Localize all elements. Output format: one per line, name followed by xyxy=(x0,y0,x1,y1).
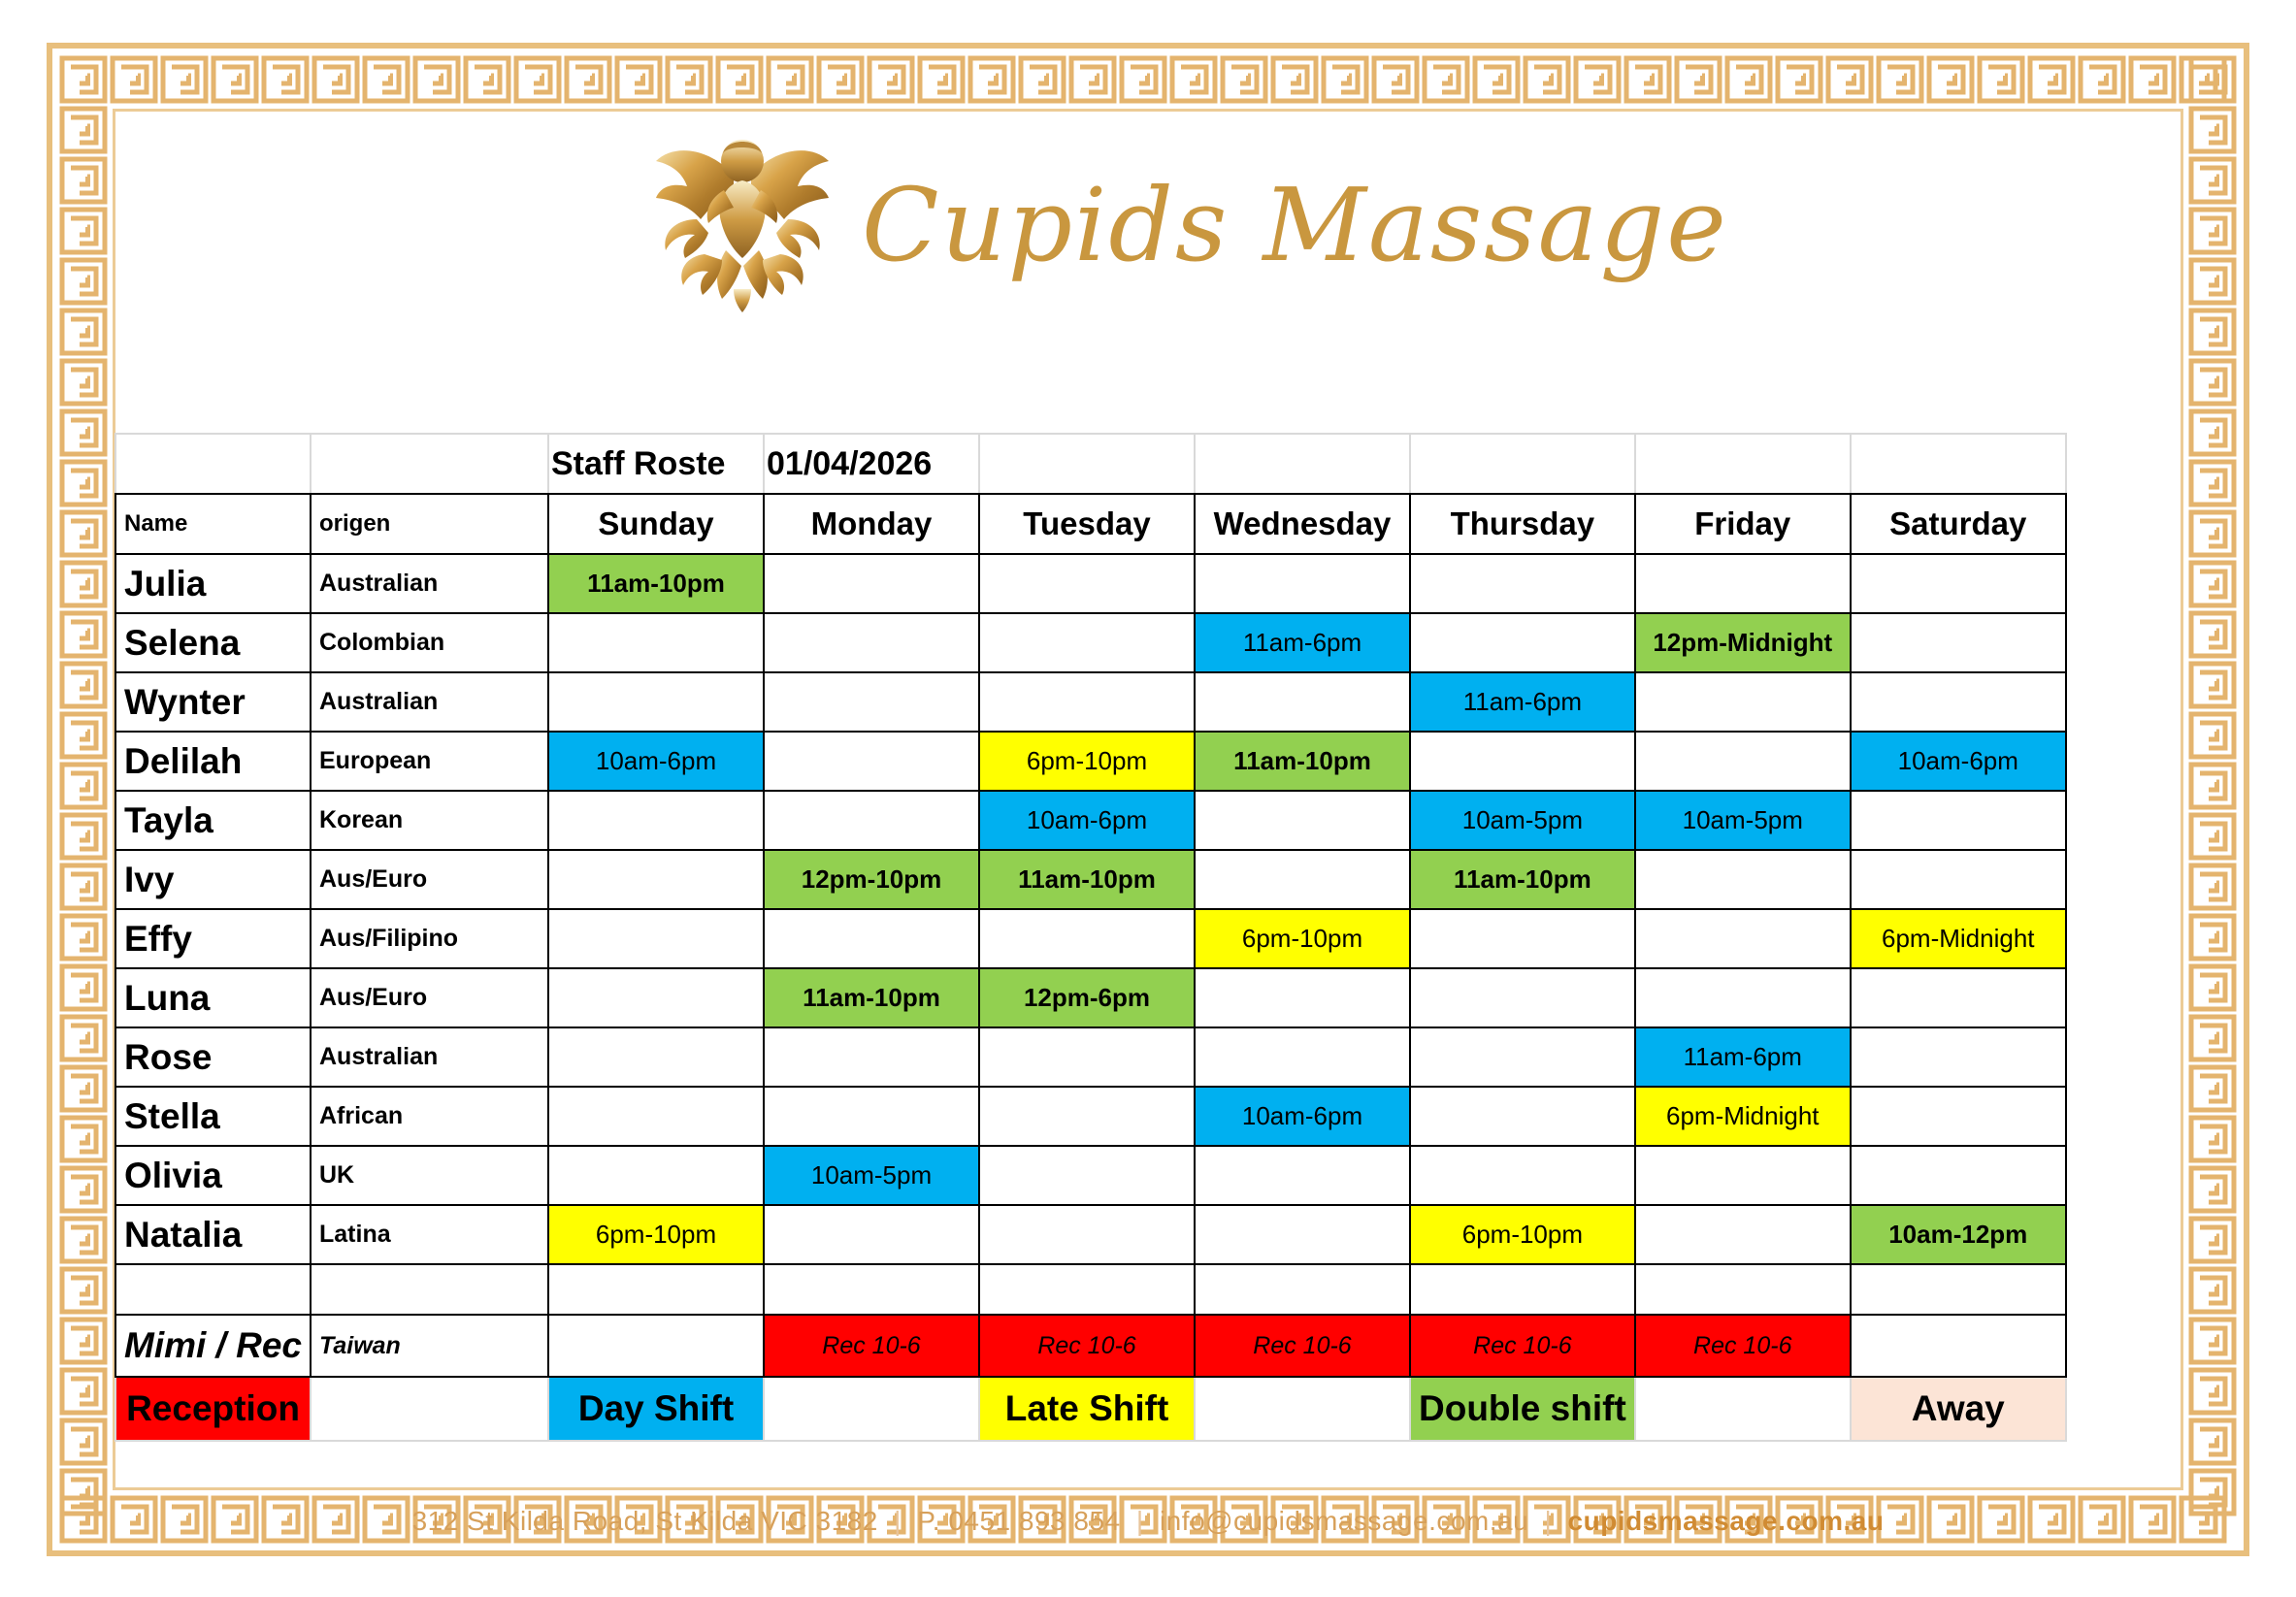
greek-key-tile xyxy=(2187,155,2238,206)
greek-key-tile xyxy=(2187,1265,2238,1316)
shift-cell-empty[interactable] xyxy=(1851,1027,2066,1087)
roster-title-date: 01/04/2026 xyxy=(764,434,979,494)
staff-origin: Korean xyxy=(311,791,548,850)
shift-cell-dbl[interactable]: 12pm-Midnight xyxy=(1635,613,1851,672)
table-row: EffyAus/Filipino6pm-10pm6pm-Midnight xyxy=(115,909,2066,968)
footer-address: 312 St Kilda Road, St Kilda VIC 3182 xyxy=(412,1506,878,1536)
shift-cell-empty[interactable] xyxy=(1195,554,1410,613)
shift-cell-empty[interactable] xyxy=(1195,672,1410,732)
greek-key-tile xyxy=(2187,508,2238,559)
spacer-cell xyxy=(1195,1264,1410,1315)
shift-cell-empty[interactable] xyxy=(1851,672,2066,732)
staff-origin: Australian xyxy=(311,1027,548,1087)
title-spacer-name xyxy=(115,434,311,494)
roster-header-row: NameorigenSundayMondayTuesdayWednesdayTh… xyxy=(115,494,2066,554)
staff-name: Selena xyxy=(115,613,311,672)
greek-key-tile xyxy=(2187,357,2238,407)
legend-row: ReceptionDay ShiftLate ShiftDouble shift… xyxy=(115,1377,2066,1441)
shift-cell-empty[interactable] xyxy=(1635,732,1851,791)
greek-key-tile xyxy=(1067,54,1118,105)
greek-key-tile xyxy=(58,1114,109,1164)
staff-name: Tayla xyxy=(115,791,311,850)
footer-separator-1: | xyxy=(886,1506,909,1536)
greek-key-tile xyxy=(1522,54,1572,105)
greek-key-tile xyxy=(1168,54,1219,105)
shift-cell-empty[interactable] xyxy=(1635,909,1851,968)
staff-name: Rose xyxy=(115,1027,311,1087)
shift-cell-empty[interactable] xyxy=(1851,554,2066,613)
greek-key-tile xyxy=(58,811,109,862)
greek-key-tile xyxy=(2187,54,2238,105)
shift-cell-empty[interactable] xyxy=(1195,1027,1410,1087)
staff-origin: Aus/Euro xyxy=(311,850,548,909)
shift-cell-empty[interactable] xyxy=(1410,1146,1635,1205)
title-spacer-cell xyxy=(1851,434,2066,494)
spacer-cell xyxy=(1635,1264,1851,1315)
greek-key-tile xyxy=(1269,54,1320,105)
greek-key-tile xyxy=(1370,54,1421,105)
greek-key-tile xyxy=(1421,54,1471,105)
shift-cell-empty[interactable] xyxy=(979,1205,1195,1264)
greek-key-tile xyxy=(2187,458,2238,508)
greek-key-tile xyxy=(815,54,866,105)
shift-cell-empty[interactable] xyxy=(548,850,764,909)
shift-cell-empty[interactable] xyxy=(1851,1315,2066,1377)
greek-key-tile xyxy=(2187,1164,2238,1215)
greek-key-tile xyxy=(916,54,967,105)
staff-name: Julia xyxy=(115,554,311,613)
title-spacer-cell xyxy=(1635,434,1851,494)
reception-staff-origin: Taiwan xyxy=(311,1315,548,1377)
greek-key-tile xyxy=(1925,54,1976,105)
staff-origin: Aus/Euro xyxy=(311,968,548,1027)
shift-cell-empty[interactable] xyxy=(764,909,979,968)
greek-key-tile xyxy=(58,407,109,458)
shift-cell-empty[interactable] xyxy=(1851,968,2066,1027)
greek-key-tile xyxy=(2187,1215,2238,1265)
shift-cell-empty[interactable] xyxy=(979,909,1195,968)
greek-key-tile xyxy=(58,1215,109,1265)
table-row: StellaAfrican10am-6pm6pm-Midnight xyxy=(115,1087,2066,1146)
shift-cell-day[interactable]: 10am-5pm xyxy=(1410,791,1635,850)
shift-cell-late[interactable]: 6pm-10pm xyxy=(548,1205,764,1264)
greek-key-tile xyxy=(2187,105,2238,155)
staff-name: Natalia xyxy=(115,1205,311,1264)
shift-cell-empty[interactable] xyxy=(1851,791,2066,850)
shift-cell-empty[interactable] xyxy=(1410,909,1635,968)
greek-key-tile xyxy=(765,54,815,105)
shift-cell-day[interactable]: 10am-6pm xyxy=(1195,1087,1410,1146)
shift-cell-dbl[interactable]: 11am-10pm xyxy=(548,554,764,613)
column-header-tuesday: Tuesday xyxy=(979,494,1195,554)
greek-key-tile xyxy=(58,256,109,307)
legend-double-shift: Double shift xyxy=(1410,1377,1635,1441)
shift-cell-empty[interactable] xyxy=(979,672,1195,732)
shift-cell-empty[interactable] xyxy=(979,554,1195,613)
greek-key-tile xyxy=(967,54,1017,105)
legend-day-shift: Day Shift xyxy=(548,1377,764,1441)
staff-origin: Australian xyxy=(311,672,548,732)
shift-cell-dbl[interactable]: 12pm-10pm xyxy=(764,850,979,909)
shift-cell-dbl[interactable]: 11am-10pm xyxy=(979,850,1195,909)
staff-origin: Colombian xyxy=(311,613,548,672)
shift-cell-rec[interactable]: Rec 10-6 xyxy=(979,1315,1195,1377)
shift-cell-empty[interactable] xyxy=(1635,850,1851,909)
greek-key-tile xyxy=(1875,54,1925,105)
column-header-saturday: Saturday xyxy=(1851,494,2066,554)
table-row: TaylaKorean10am-6pm10am-5pm10am-5pm xyxy=(115,791,2066,850)
table-row: IvyAus/Euro12pm-10pm11am-10pm11am-10pm xyxy=(115,850,2066,909)
greek-key-tile xyxy=(2187,660,2238,710)
table-row: DelilahEuropean10am-6pm6pm-10pm11am-10pm… xyxy=(115,732,2066,791)
reception-staff-row: Mimi / RecTaiwanRec 10-6Rec 10-6Rec 10-6… xyxy=(115,1315,2066,1377)
greek-key-tile xyxy=(2187,307,2238,357)
greek-key-tile xyxy=(2187,761,2238,811)
legend-spacer xyxy=(1635,1377,1851,1441)
greek-key-tile xyxy=(714,54,765,105)
spacer-cell xyxy=(115,1264,311,1315)
shift-cell-empty[interactable] xyxy=(764,1087,979,1146)
shift-cell-empty[interactable] xyxy=(1410,732,1635,791)
footer-contact: 312 St Kilda Road, St Kilda VIC 3182 | P… xyxy=(0,1506,2296,1537)
greek-key-tile xyxy=(2187,407,2238,458)
shift-cell-empty[interactable] xyxy=(1851,613,2066,672)
greek-key-tile xyxy=(1017,54,1067,105)
greek-key-tile xyxy=(58,206,109,256)
greek-key-tile xyxy=(58,761,109,811)
title-spacer-cell xyxy=(1195,434,1410,494)
greek-key-tile xyxy=(1976,54,2026,105)
table-row: NataliaLatina6pm-10pm6pm-10pm10am-12pm xyxy=(115,1205,2066,1264)
column-header-friday: Friday xyxy=(1635,494,1851,554)
shift-cell-empty[interactable] xyxy=(1195,1146,1410,1205)
legend-spacer xyxy=(764,1377,979,1441)
greek-key-tile xyxy=(2187,609,2238,660)
greek-key-right xyxy=(2187,54,2238,1517)
shift-cell-day[interactable]: 11am-6pm xyxy=(1635,1027,1851,1087)
greek-key-tile xyxy=(159,54,210,105)
greek-key-tile xyxy=(462,54,512,105)
greek-key-tile xyxy=(109,54,159,105)
staff-origin: African xyxy=(311,1087,548,1146)
table-row: RoseAustralian11am-6pm xyxy=(115,1027,2066,1087)
greek-key-tile xyxy=(2187,1417,2238,1467)
greek-key-tile xyxy=(613,54,664,105)
shift-cell-dbl[interactable]: 12pm-6pm xyxy=(979,968,1195,1027)
table-row: JuliaAustralian11am-10pm xyxy=(115,554,2066,613)
greek-key-tile xyxy=(58,559,109,609)
greek-key-tile xyxy=(58,307,109,357)
spacer-cell xyxy=(764,1264,979,1315)
greek-key-tile xyxy=(260,54,311,105)
footer-phone: P. 0451 893 854 xyxy=(917,1506,1120,1536)
greek-key-tile xyxy=(2187,1366,2238,1417)
shift-cell-late[interactable]: 6pm-10pm xyxy=(1410,1205,1635,1264)
shift-cell-empty[interactable] xyxy=(1410,1027,1635,1087)
footer-email[interactable]: info@cupidsmassage.com.au xyxy=(1160,1506,1528,1536)
shift-cell-rec[interactable]: Rec 10-6 xyxy=(1195,1315,1410,1377)
shift-cell-empty[interactable] xyxy=(548,613,764,672)
column-header-name: Name xyxy=(115,494,311,554)
shift-cell-empty[interactable] xyxy=(1851,850,2066,909)
footer-separator-3: | xyxy=(1536,1506,1559,1536)
greek-key-tile xyxy=(2077,54,2127,105)
shift-cell-empty[interactable] xyxy=(1410,1087,1635,1146)
greek-key-tile xyxy=(1723,54,1774,105)
title-spacer-origin xyxy=(311,434,548,494)
greek-key-tile xyxy=(2187,710,2238,761)
staff-origin: European xyxy=(311,732,548,791)
legend-reception: Reception xyxy=(115,1377,311,1441)
title-spacer-cell xyxy=(1410,434,1635,494)
shift-cell-day[interactable]: 10am-6pm xyxy=(1851,732,2066,791)
shift-cell-empty[interactable] xyxy=(548,1027,764,1087)
column-header-wednesday: Wednesday xyxy=(1195,494,1410,554)
spacer-cell xyxy=(979,1264,1195,1315)
shift-cell-empty[interactable] xyxy=(764,613,979,672)
spacer-cell xyxy=(311,1264,548,1315)
shift-cell-empty[interactable] xyxy=(548,791,764,850)
staff-name: Olivia xyxy=(115,1146,311,1205)
legend-spacer xyxy=(1195,1377,1410,1441)
shift-cell-dbl[interactable]: 10am-12pm xyxy=(1851,1205,2066,1264)
greek-key-tile xyxy=(58,105,109,155)
greek-key-tile xyxy=(2026,54,2077,105)
shift-cell-empty[interactable] xyxy=(764,554,979,613)
shift-cell-empty[interactable] xyxy=(1195,791,1410,850)
greek-key-tile xyxy=(1623,54,1673,105)
greek-key-tile xyxy=(1774,54,1824,105)
staff-origin: UK xyxy=(311,1146,548,1205)
shift-cell-day[interactable]: 10am-6pm xyxy=(979,791,1195,850)
greek-key-tile xyxy=(563,54,613,105)
roster-title-row: Staff Roste01/04/2026 xyxy=(115,434,2066,494)
greek-key-tile xyxy=(1471,54,1522,105)
shift-cell-late[interactable]: 6pm-Midnight xyxy=(1851,909,2066,968)
column-header-monday: Monday xyxy=(764,494,979,554)
greek-key-tile xyxy=(2187,1316,2238,1366)
shift-cell-empty[interactable] xyxy=(764,1027,979,1087)
shift-cell-day[interactable]: 10am-6pm xyxy=(548,732,764,791)
shift-cell-rec[interactable]: Rec 10-6 xyxy=(1410,1315,1635,1377)
shift-cell-day[interactable]: 11am-6pm xyxy=(1410,672,1635,732)
shift-cell-empty[interactable] xyxy=(1195,850,1410,909)
cherub-angel-icon xyxy=(640,118,844,312)
greek-key-tile xyxy=(1572,54,1623,105)
greek-key-tile xyxy=(58,54,109,105)
shift-cell-empty[interactable] xyxy=(548,1087,764,1146)
reception-staff-name: Mimi / Rec xyxy=(115,1315,311,1377)
shift-cell-empty[interactable] xyxy=(979,1146,1195,1205)
roster-spacer-row xyxy=(115,1264,2066,1315)
greek-key-tile xyxy=(58,1063,109,1114)
shift-cell-late[interactable]: 6pm-10pm xyxy=(979,732,1195,791)
title-spacer-cell xyxy=(979,434,1195,494)
shift-cell-empty[interactable] xyxy=(548,1146,764,1205)
staff-name: Ivy xyxy=(115,850,311,909)
greek-key-tile xyxy=(2187,912,2238,962)
table-row: OliviaUK10am-5pm xyxy=(115,1146,2066,1205)
greek-key-tile xyxy=(58,962,109,1013)
shift-cell-dbl[interactable]: 11am-10pm xyxy=(1410,850,1635,909)
greek-key-tile xyxy=(2187,862,2238,912)
shift-cell-day[interactable]: 10am-5pm xyxy=(1635,791,1851,850)
greek-key-tile xyxy=(58,1417,109,1467)
greek-key-tile xyxy=(2127,54,2178,105)
table-row: SelenaColombian11am-6pm12pm-Midnight xyxy=(115,613,2066,672)
shift-cell-empty[interactable] xyxy=(1410,968,1635,1027)
shift-cell-day[interactable]: 11am-6pm xyxy=(1195,613,1410,672)
greek-key-tile xyxy=(2187,559,2238,609)
shift-cell-empty[interactable] xyxy=(548,909,764,968)
table-row: LunaAus/Euro11am-10pm12pm-6pm xyxy=(115,968,2066,1027)
staff-roster-table: Staff Roste01/04/2026NameorigenSundayMon… xyxy=(115,433,2067,1442)
shift-cell-empty[interactable] xyxy=(1195,1205,1410,1264)
footer-website[interactable]: cupidsmassage.com.au xyxy=(1568,1506,1885,1536)
greek-key-tile xyxy=(311,54,361,105)
shift-cell-empty[interactable] xyxy=(548,968,764,1027)
staff-origin: Latina xyxy=(311,1205,548,1264)
table-row: WynterAustralian11am-6pm xyxy=(115,672,2066,732)
greek-key-tile xyxy=(664,54,714,105)
staff-name: Wynter xyxy=(115,672,311,732)
shift-cell-empty[interactable] xyxy=(1851,1146,2066,1205)
roster-title-label: Staff Roste xyxy=(548,434,764,494)
column-header-sunday: Sunday xyxy=(548,494,764,554)
shift-cell-dbl[interactable]: 11am-10pm xyxy=(1195,732,1410,791)
footer-separator-2: | xyxy=(1129,1506,1152,1536)
staff-name: Effy xyxy=(115,909,311,968)
shift-cell-empty[interactable] xyxy=(1410,613,1635,672)
shift-cell-empty[interactable] xyxy=(764,732,979,791)
greek-key-tile xyxy=(1219,54,1269,105)
shift-cell-day[interactable]: 10am-5pm xyxy=(764,1146,979,1205)
spacer-cell xyxy=(548,1264,764,1315)
greek-key-tile xyxy=(58,609,109,660)
staff-origin: Australian xyxy=(311,554,548,613)
greek-key-tile xyxy=(1824,54,1875,105)
greek-key-tile xyxy=(58,508,109,559)
legend-late-shift: Late Shift xyxy=(979,1377,1195,1441)
greek-key-tile xyxy=(2187,1063,2238,1114)
legend-spacer xyxy=(311,1377,548,1441)
greek-key-tile xyxy=(210,54,260,105)
greek-key-tile xyxy=(2187,1114,2238,1164)
greek-key-tile xyxy=(58,1265,109,1316)
column-header-origin: origen xyxy=(311,494,548,554)
greek-key-tile xyxy=(1118,54,1168,105)
staff-name: Luna xyxy=(115,968,311,1027)
spacer-cell xyxy=(1410,1264,1635,1315)
greek-key-tile xyxy=(2187,1013,2238,1063)
shift-cell-empty[interactable] xyxy=(1635,1146,1851,1205)
greek-key-tile xyxy=(58,1316,109,1366)
shift-cell-empty[interactable] xyxy=(548,672,764,732)
shift-cell-empty[interactable] xyxy=(1635,968,1851,1027)
greek-key-tile xyxy=(2187,962,2238,1013)
greek-key-tile xyxy=(361,54,411,105)
shift-cell-late[interactable]: 6pm-10pm xyxy=(1195,909,1410,968)
greek-key-top xyxy=(58,54,2228,105)
greek-key-tile xyxy=(866,54,916,105)
greek-key-tile xyxy=(2187,206,2238,256)
shift-cell-empty[interactable] xyxy=(979,613,1195,672)
shift-cell-empty[interactable] xyxy=(548,1315,764,1377)
shift-cell-late[interactable]: 6pm-Midnight xyxy=(1635,1087,1851,1146)
staff-origin: Aus/Filipino xyxy=(311,909,548,968)
shift-cell-rec[interactable]: Rec 10-6 xyxy=(1635,1315,1851,1377)
greek-key-tile xyxy=(58,660,109,710)
shift-cell-empty[interactable] xyxy=(764,791,979,850)
greek-key-tile xyxy=(58,357,109,407)
greek-key-tile xyxy=(58,155,109,206)
shift-cell-empty[interactable] xyxy=(1410,554,1635,613)
shift-cell-rec[interactable]: Rec 10-6 xyxy=(764,1315,979,1377)
greek-key-tile xyxy=(58,1164,109,1215)
brand-header: Cupids Massage xyxy=(640,114,1611,309)
column-header-thursday: Thursday xyxy=(1410,494,1635,554)
greek-key-tile xyxy=(58,458,109,508)
greek-key-tile xyxy=(58,862,109,912)
greek-key-tile xyxy=(1673,54,1723,105)
greek-key-tile xyxy=(512,54,563,105)
brand-name: Cupids Massage xyxy=(862,175,1728,276)
greek-key-left xyxy=(58,54,109,1517)
shift-cell-empty[interactable] xyxy=(1195,968,1410,1027)
shift-cell-dbl[interactable]: 11am-10pm xyxy=(764,968,979,1027)
shift-cell-empty[interactable] xyxy=(764,672,979,732)
greek-key-tile xyxy=(1320,54,1370,105)
greek-key-tile xyxy=(58,1366,109,1417)
greek-key-tile xyxy=(58,1013,109,1063)
greek-key-tile xyxy=(2187,256,2238,307)
spacer-cell xyxy=(1851,1264,2066,1315)
greek-key-tile xyxy=(58,912,109,962)
greek-key-tile xyxy=(2187,811,2238,862)
staff-name: Stella xyxy=(115,1087,311,1146)
shift-cell-empty[interactable] xyxy=(1635,1205,1851,1264)
staff-name: Delilah xyxy=(115,732,311,791)
shift-cell-empty[interactable] xyxy=(1635,554,1851,613)
shift-cell-empty[interactable] xyxy=(979,1087,1195,1146)
legend-away: Away xyxy=(1851,1377,2066,1441)
greek-key-tile xyxy=(58,710,109,761)
shift-cell-empty[interactable] xyxy=(1851,1087,2066,1146)
shift-cell-empty[interactable] xyxy=(764,1205,979,1264)
shift-cell-empty[interactable] xyxy=(1635,672,1851,732)
greek-key-tile xyxy=(411,54,462,105)
shift-cell-empty[interactable] xyxy=(979,1027,1195,1087)
